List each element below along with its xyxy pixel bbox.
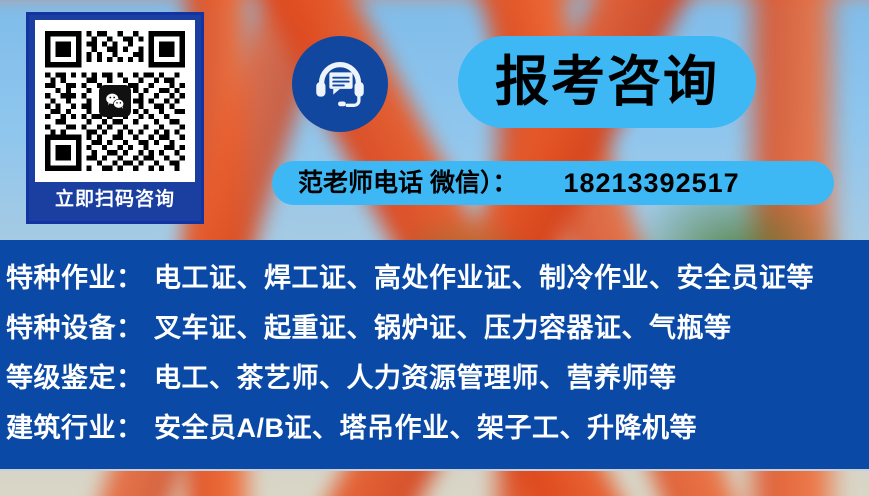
contact-phone-pill[interactable]: 范老师电话 微信）： 18213392517 [272,161,834,205]
info-row-construction-industry: 建筑行业： 安全员A/B证、塔吊作业、架子工、升降机等 [0,406,869,456]
info-row-special-operations: 特种作业： 电工证、焊工证、高处作业证、制冷作业、安全员证等 [0,256,869,306]
headset-support-icon [292,36,388,132]
info-label: 等级鉴定： [6,356,154,395]
info-label: 建筑行业： [6,406,154,445]
consultation-title-pill[interactable]: 报考咨询 [458,36,756,128]
info-label: 特种作业： [6,256,154,295]
contact-phone-number[interactable]: 18213392517 [563,170,739,197]
info-value: 叉车证、起重证、锅炉证、压力容器证、气瓶等 [154,306,732,345]
info-label: 特种设备： [6,306,154,345]
contact-label: 范老师电话 微信）： [298,171,517,196]
panel-underline-divider [0,469,869,471]
certificate-categories-panel: 特种作业： 电工证、焊工证、高处作业证、制冷作业、安全员证等 特种设备： 叉车证… [0,240,869,469]
promo-poster: 立即扫码咨询 报考咨询 范老师电话 微信）： 18213392517 特 [0,0,869,496]
info-row-special-equipment: 特种设备： 叉车证、起重证、锅炉证、压力容器证、气瓶等 [0,306,869,356]
qr-caption: 立即扫码咨询 [55,190,175,209]
qr-code-image[interactable] [35,20,195,182]
info-value: 安全员A/B证、塔吊作业、架子工、升降机等 [154,406,697,445]
info-value: 电工证、焊工证、高处作业证、制冷作业、安全员证等 [154,256,814,295]
wechat-glyph [104,90,126,112]
headset-glyph [309,53,371,115]
qr-code-card[interactable]: 立即扫码咨询 [26,12,204,224]
info-row-grade-appraisal: 等级鉴定： 电工、茶艺师、人力资源管理师、营养师等 [0,356,869,406]
wechat-icon [99,85,131,117]
consultation-title-text: 报考咨询 [495,55,719,109]
info-value: 电工、茶艺师、人力资源管理师、营养师等 [154,356,677,395]
